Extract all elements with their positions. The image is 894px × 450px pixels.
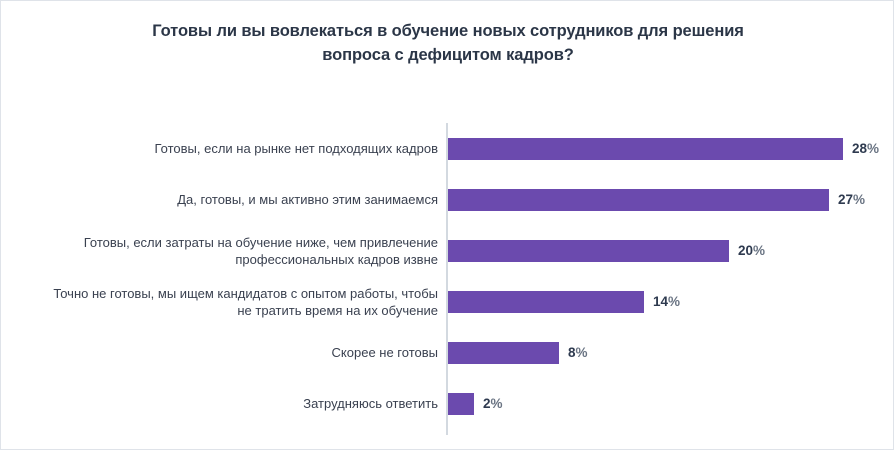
bar-category-label: Готовы, если на рынке нет подходящих кад… <box>18 123 438 174</box>
bar-category-label: Готовы, если затраты на обучение ниже, ч… <box>18 225 438 276</box>
bar-segment <box>448 393 474 415</box>
bar-track: 27% <box>448 174 894 225</box>
bar-category-label-line: профессиональных кадров извне <box>235 251 438 268</box>
bar-track: 8% <box>448 327 894 378</box>
bar-category-label-line: Скорее не готовы <box>332 344 438 361</box>
chart-title-line-1: Готовы ли вы вовлекаться в обучение новы… <box>61 19 835 43</box>
chart-title-line-2: вопроса с дефицитом кадров? <box>61 43 835 67</box>
bar-value-label: 20% <box>738 243 765 258</box>
bar-category-label-line: Готовы, если на рынке нет подходящих кад… <box>154 140 438 157</box>
bar-category-label-line: не тратить время на их обучение <box>237 302 438 319</box>
bar-row: Да, готовы, и мы активно этим занимаемся… <box>1 174 894 225</box>
bar-category-label-line: Точно не готовы, мы ищем кандидатов с оп… <box>53 285 438 302</box>
bar-row: Скорее не готовы 8% <box>1 327 894 378</box>
bar-segment <box>448 342 559 364</box>
bar-value-number: 28 <box>852 141 867 156</box>
bar-segment <box>448 189 829 211</box>
bar-category-label: Да, готовы, и мы активно этим занимаемся <box>18 174 438 225</box>
bar-category-label: Затрудняюсь ответить <box>18 378 438 429</box>
bar-row: Готовы, если затраты на обучение ниже, ч… <box>1 225 894 276</box>
bar-category-label: Точно не готовы, мы ищем кандидатов с оп… <box>18 276 438 327</box>
bar-category-label: Скорее не готовы <box>18 327 438 378</box>
percent-sign: % <box>491 396 503 411</box>
bar-value-label: 14% <box>653 294 680 309</box>
bar-row: Готовы, если на рынке нет подходящих кад… <box>1 123 894 174</box>
percent-sign: % <box>753 243 765 258</box>
bar-track: 2% <box>448 378 894 429</box>
percent-sign: % <box>668 294 680 309</box>
bar-row: Точно не готовы, мы ищем кандидатов с оп… <box>1 276 894 327</box>
percent-sign: % <box>576 345 588 360</box>
bar-category-label-line: Готовы, если затраты на обучение ниже, ч… <box>84 234 438 251</box>
bar-category-label-line: Да, готовы, и мы активно этим занимаемся <box>177 191 438 208</box>
bar-value-label: 27% <box>838 192 865 207</box>
bar-track: 20% <box>448 225 894 276</box>
bar-value-label: 8% <box>568 345 588 360</box>
chart-card: Готовы ли вы вовлекаться в обучение новы… <box>0 0 894 450</box>
bar-segment <box>448 240 729 262</box>
bar-value-number: 2 <box>483 396 491 411</box>
bar-value-number: 8 <box>568 345 576 360</box>
bar-value-number: 14 <box>653 294 668 309</box>
bar-rows: Готовы, если на рынке нет подходящих кад… <box>1 123 894 429</box>
percent-sign: % <box>867 141 879 156</box>
bar-category-label-line: Затрудняюсь ответить <box>303 395 438 412</box>
chart-title: Готовы ли вы вовлекаться в обучение новы… <box>61 19 835 67</box>
bar-value-number: 27 <box>838 192 853 207</box>
percent-sign: % <box>853 192 865 207</box>
bar-value-label: 2% <box>483 396 503 411</box>
bar-value-label: 28% <box>852 141 879 156</box>
bar-row: Затрудняюсь ответить 2% <box>1 378 894 429</box>
bar-segment <box>448 138 843 160</box>
bar-track: 14% <box>448 276 894 327</box>
bar-segment <box>448 291 644 313</box>
bar-track: 28% <box>448 123 894 174</box>
bar-value-number: 20 <box>738 243 753 258</box>
plot-area: Готовы, если на рынке нет подходящих кад… <box>1 111 894 441</box>
